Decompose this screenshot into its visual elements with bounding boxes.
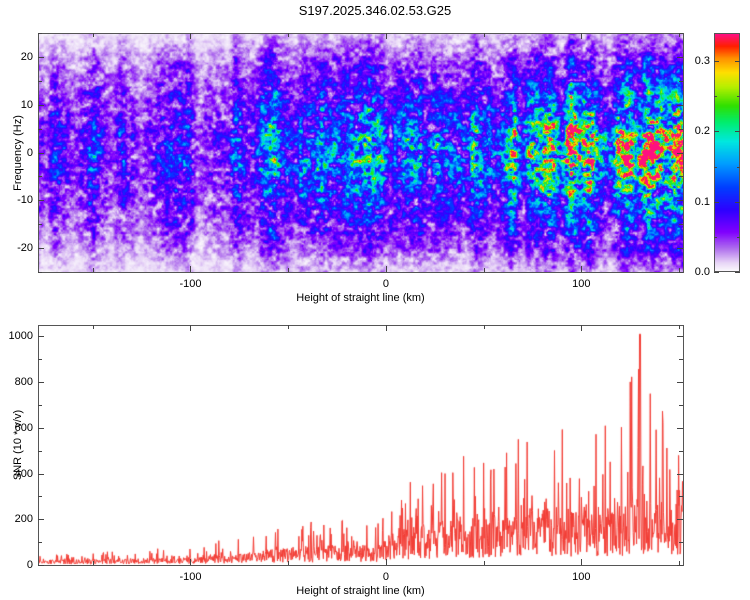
tick-mark <box>581 559 582 565</box>
tick-mark <box>581 33 582 39</box>
tick-mark <box>714 237 717 238</box>
tick-mark <box>679 272 683 273</box>
spectrogram-x-tick-label: -100 <box>179 278 201 290</box>
tick-mark <box>735 61 740 62</box>
spectrogram-axes-frame <box>38 33 684 273</box>
tick-mark <box>288 325 289 329</box>
tick-mark <box>679 176 683 177</box>
tick-mark <box>386 325 387 331</box>
tick-mark <box>38 57 44 58</box>
spectrogram-x-axis-label: Height of straight line (km) <box>296 292 424 304</box>
tick-mark <box>735 131 740 132</box>
tick-mark <box>288 268 289 272</box>
snr-y-axis-label: SNR (10 * v/v) <box>12 410 24 480</box>
tick-mark <box>38 336 44 337</box>
tick-mark <box>679 81 683 82</box>
tick-mark <box>737 167 740 168</box>
colorbar-tick-label: 0.2 <box>695 125 710 137</box>
tick-mark <box>38 248 44 249</box>
tick-mark <box>38 105 44 106</box>
tick-mark <box>677 200 683 201</box>
tick-mark <box>288 33 289 37</box>
tick-mark <box>38 176 42 177</box>
colorbar-tick-label: 0.0 <box>695 266 710 278</box>
tick-mark <box>679 224 683 225</box>
tick-mark <box>38 496 42 497</box>
tick-mark <box>484 268 485 272</box>
tick-mark <box>38 451 42 452</box>
tick-mark <box>677 105 683 106</box>
tick-mark <box>581 325 582 331</box>
snr-x-tick-label: -100 <box>179 571 201 583</box>
tick-mark <box>190 559 191 565</box>
tick-mark <box>38 519 44 520</box>
tick-mark <box>735 202 740 203</box>
snr-y-tick-label: 0 <box>27 559 33 571</box>
tick-mark <box>38 474 44 475</box>
tick-mark <box>677 428 683 429</box>
tick-mark <box>386 266 387 272</box>
tick-mark <box>38 405 42 406</box>
tick-mark <box>38 382 44 383</box>
spectrogram-y-tick-label: -10 <box>17 194 33 206</box>
tick-mark <box>679 451 683 452</box>
tick-mark <box>679 405 683 406</box>
tick-mark <box>714 167 717 168</box>
tick-mark <box>484 561 485 565</box>
snr-x-tick-label: 0 <box>383 571 389 583</box>
tick-mark <box>38 200 44 201</box>
tick-mark <box>737 96 740 97</box>
spectrogram-y-tick-label: 10 <box>21 99 33 111</box>
tick-mark <box>679 359 683 360</box>
tick-mark <box>93 33 94 37</box>
tick-mark <box>714 202 719 203</box>
snr-y-tick-label: 200 <box>15 513 33 525</box>
tick-mark <box>38 359 42 360</box>
tick-mark <box>677 248 683 249</box>
tick-mark <box>288 561 289 565</box>
tick-mark <box>38 224 42 225</box>
tick-mark <box>190 33 191 39</box>
snr-x-axis-label: Height of straight line (km) <box>296 585 424 597</box>
colorbar-tick-label: 0.3 <box>695 55 710 67</box>
spectrogram-x-tick-label: 0 <box>383 278 389 290</box>
snr-y-tick-label: 800 <box>15 376 33 388</box>
tick-mark <box>93 561 94 565</box>
snr-axes-frame <box>38 325 684 566</box>
tick-mark <box>679 496 683 497</box>
tick-mark <box>38 542 42 543</box>
tick-mark <box>38 153 44 154</box>
tick-mark <box>677 153 683 154</box>
spectrogram-y-axis-label: Frequency (Hz) <box>12 115 24 191</box>
colorbar-tick-label: 0.1 <box>695 196 710 208</box>
tick-mark <box>484 33 485 37</box>
tick-mark <box>677 474 683 475</box>
tick-mark <box>677 382 683 383</box>
snr-x-tick-label: 100 <box>572 571 590 583</box>
tick-mark <box>677 336 683 337</box>
tick-mark <box>38 565 44 566</box>
spectrogram-y-tick-label: 0 <box>27 147 33 159</box>
tick-mark <box>737 237 740 238</box>
tick-mark <box>38 81 42 82</box>
tick-mark <box>38 33 42 34</box>
tick-mark <box>484 325 485 329</box>
figure-title: S197.2025.346.02.53.G25 <box>0 3 750 18</box>
tick-mark <box>677 519 683 520</box>
tick-mark <box>679 129 683 130</box>
tick-mark <box>386 559 387 565</box>
spectrogram-x-tick-label: 100 <box>572 278 590 290</box>
tick-mark <box>93 325 94 329</box>
tick-mark <box>190 325 191 331</box>
tick-mark <box>677 57 683 58</box>
tick-mark <box>679 542 683 543</box>
tick-mark <box>190 266 191 272</box>
tick-mark <box>679 33 683 34</box>
tick-mark <box>581 266 582 272</box>
figure-canvas: S197.2025.346.02.53.G25 -1000100 -20-100… <box>0 0 750 600</box>
tick-mark <box>714 96 717 97</box>
tick-mark <box>38 428 44 429</box>
tick-mark <box>386 33 387 39</box>
tick-mark <box>38 129 42 130</box>
tick-mark <box>38 272 42 273</box>
spectrogram-y-tick-label: 20 <box>21 51 33 63</box>
tick-mark <box>714 131 719 132</box>
tick-mark <box>679 325 680 329</box>
tick-mark <box>93 268 94 272</box>
snr-y-tick-label: 1000 <box>9 330 33 342</box>
tick-mark <box>714 272 719 273</box>
tick-mark <box>714 61 719 62</box>
tick-mark <box>677 565 683 566</box>
tick-mark <box>735 272 740 273</box>
spectrogram-y-tick-label: -20 <box>17 242 33 254</box>
